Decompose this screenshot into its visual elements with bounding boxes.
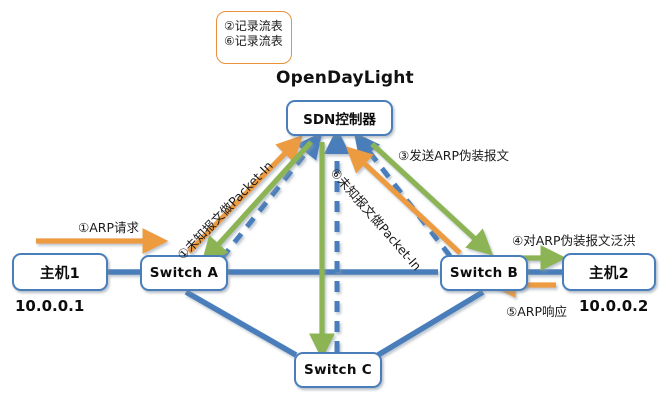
- host2-ip: 10.0.0.2: [579, 297, 648, 315]
- network-diagram-canvas: ②记录流表 ⑥记录流表 OpenDayLight SDN控制器 主机1 10.0…: [0, 0, 666, 400]
- connections-layer: [0, 0, 666, 400]
- link-switcha-switchc: [186, 292, 296, 355]
- sdn-controller-node[interactable]: SDN控制器: [286, 100, 393, 136]
- flow-note-line-1: ②记录流表: [224, 19, 285, 34]
- host2-node[interactable]: 主机2: [562, 253, 656, 291]
- switch-c-node[interactable]: Switch C: [294, 352, 382, 388]
- step4-flood-arp-spoof-label: ④对ARP伪装报文泛洪: [512, 230, 635, 249]
- host1-node[interactable]: 主机1: [12, 253, 108, 291]
- diagram-title: OpenDayLight: [276, 68, 414, 88]
- flow-note-line-2: ⑥记录流表: [224, 34, 285, 49]
- host1-ip: 10.0.0.1: [15, 297, 84, 315]
- switch-b-node[interactable]: Switch B: [440, 255, 528, 291]
- link-switchc-switchb: [378, 292, 483, 355]
- flow-table-note: ②记录流表 ⑥记录流表: [216, 11, 292, 64]
- step1-arp-request-label: ①ARP请求: [78, 217, 139, 236]
- step3-send-arp-spoof-label: ③发送ARP伪装报文: [398, 145, 509, 164]
- step5-arp-reply-label: ⑤ARP响应: [506, 301, 567, 320]
